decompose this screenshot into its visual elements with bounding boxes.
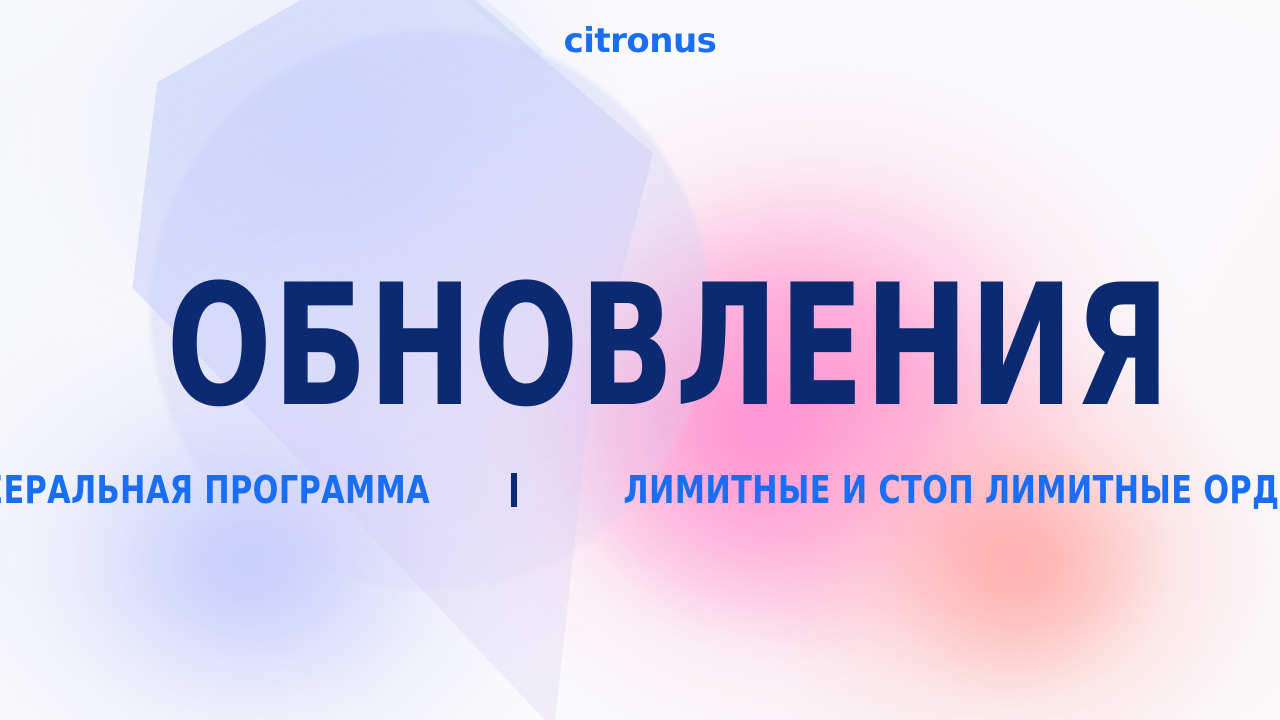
page-title: ОБНОВЛЕНИЯ (166, 262, 1113, 430)
brand-logo: citronus (0, 24, 1280, 58)
subtitle-right-label: ЛИМИТНЫЕ И СТОП ЛИМИТНЫЕ ОРДЕРА (623, 471, 1280, 509)
subtitle-row: РЕФЕЕРАЛЬНАЯ ПРОГРАММА ЛИМИТНЫЕ И СТОП Л… (0, 471, 1280, 509)
promo-banner: citronus ОБНОВЛЕНИЯ РЕФЕЕРАЛЬНАЯ ПРОГРАМ… (0, 0, 1280, 720)
subtitle-left-label: РЕФЕЕРАЛЬНАЯ ПРОГРАММА (0, 471, 430, 509)
banner-content: citronus ОБНОВЛЕНИЯ РЕФЕЕРАЛЬНАЯ ПРОГРАМ… (0, 0, 1280, 720)
subtitle-separator-icon (511, 473, 517, 507)
